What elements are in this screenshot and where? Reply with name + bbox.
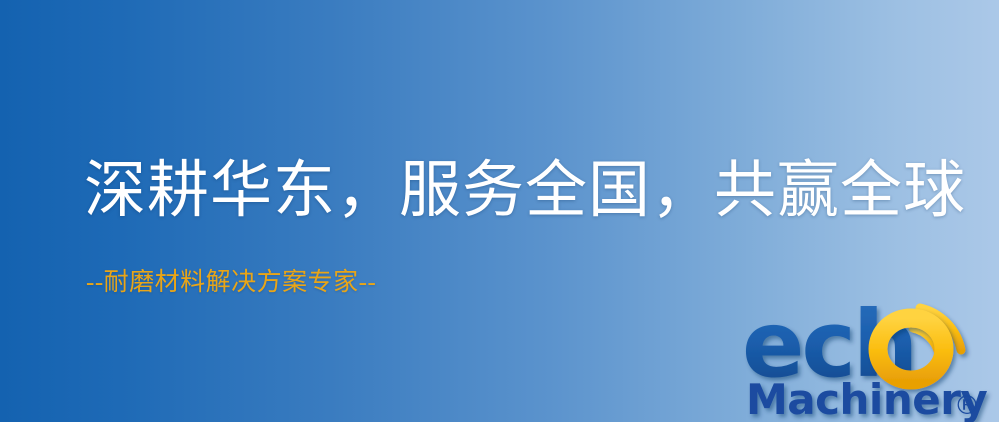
logo-svg: ech Machinery ® <box>742 292 999 422</box>
banner-headline: 深耕华东，服务全国，共赢全球 <box>84 155 966 227</box>
hero-banner: 深耕华东，服务全国，共赢全球 --耐磨材料解决方案专家-- <box>0 0 999 422</box>
machinery-wordmark: Machinery ® <box>746 375 987 422</box>
banner-subtitle: --耐磨材料解决方案专家-- <box>86 268 376 298</box>
svg-text:Machinery: Machinery <box>746 375 987 422</box>
svg-text:®: ® <box>954 391 980 421</box>
company-logo[interactable]: ech Machinery ® <box>742 292 999 422</box>
echo-machinery-logo-mark: ech Machinery ® <box>742 292 999 422</box>
